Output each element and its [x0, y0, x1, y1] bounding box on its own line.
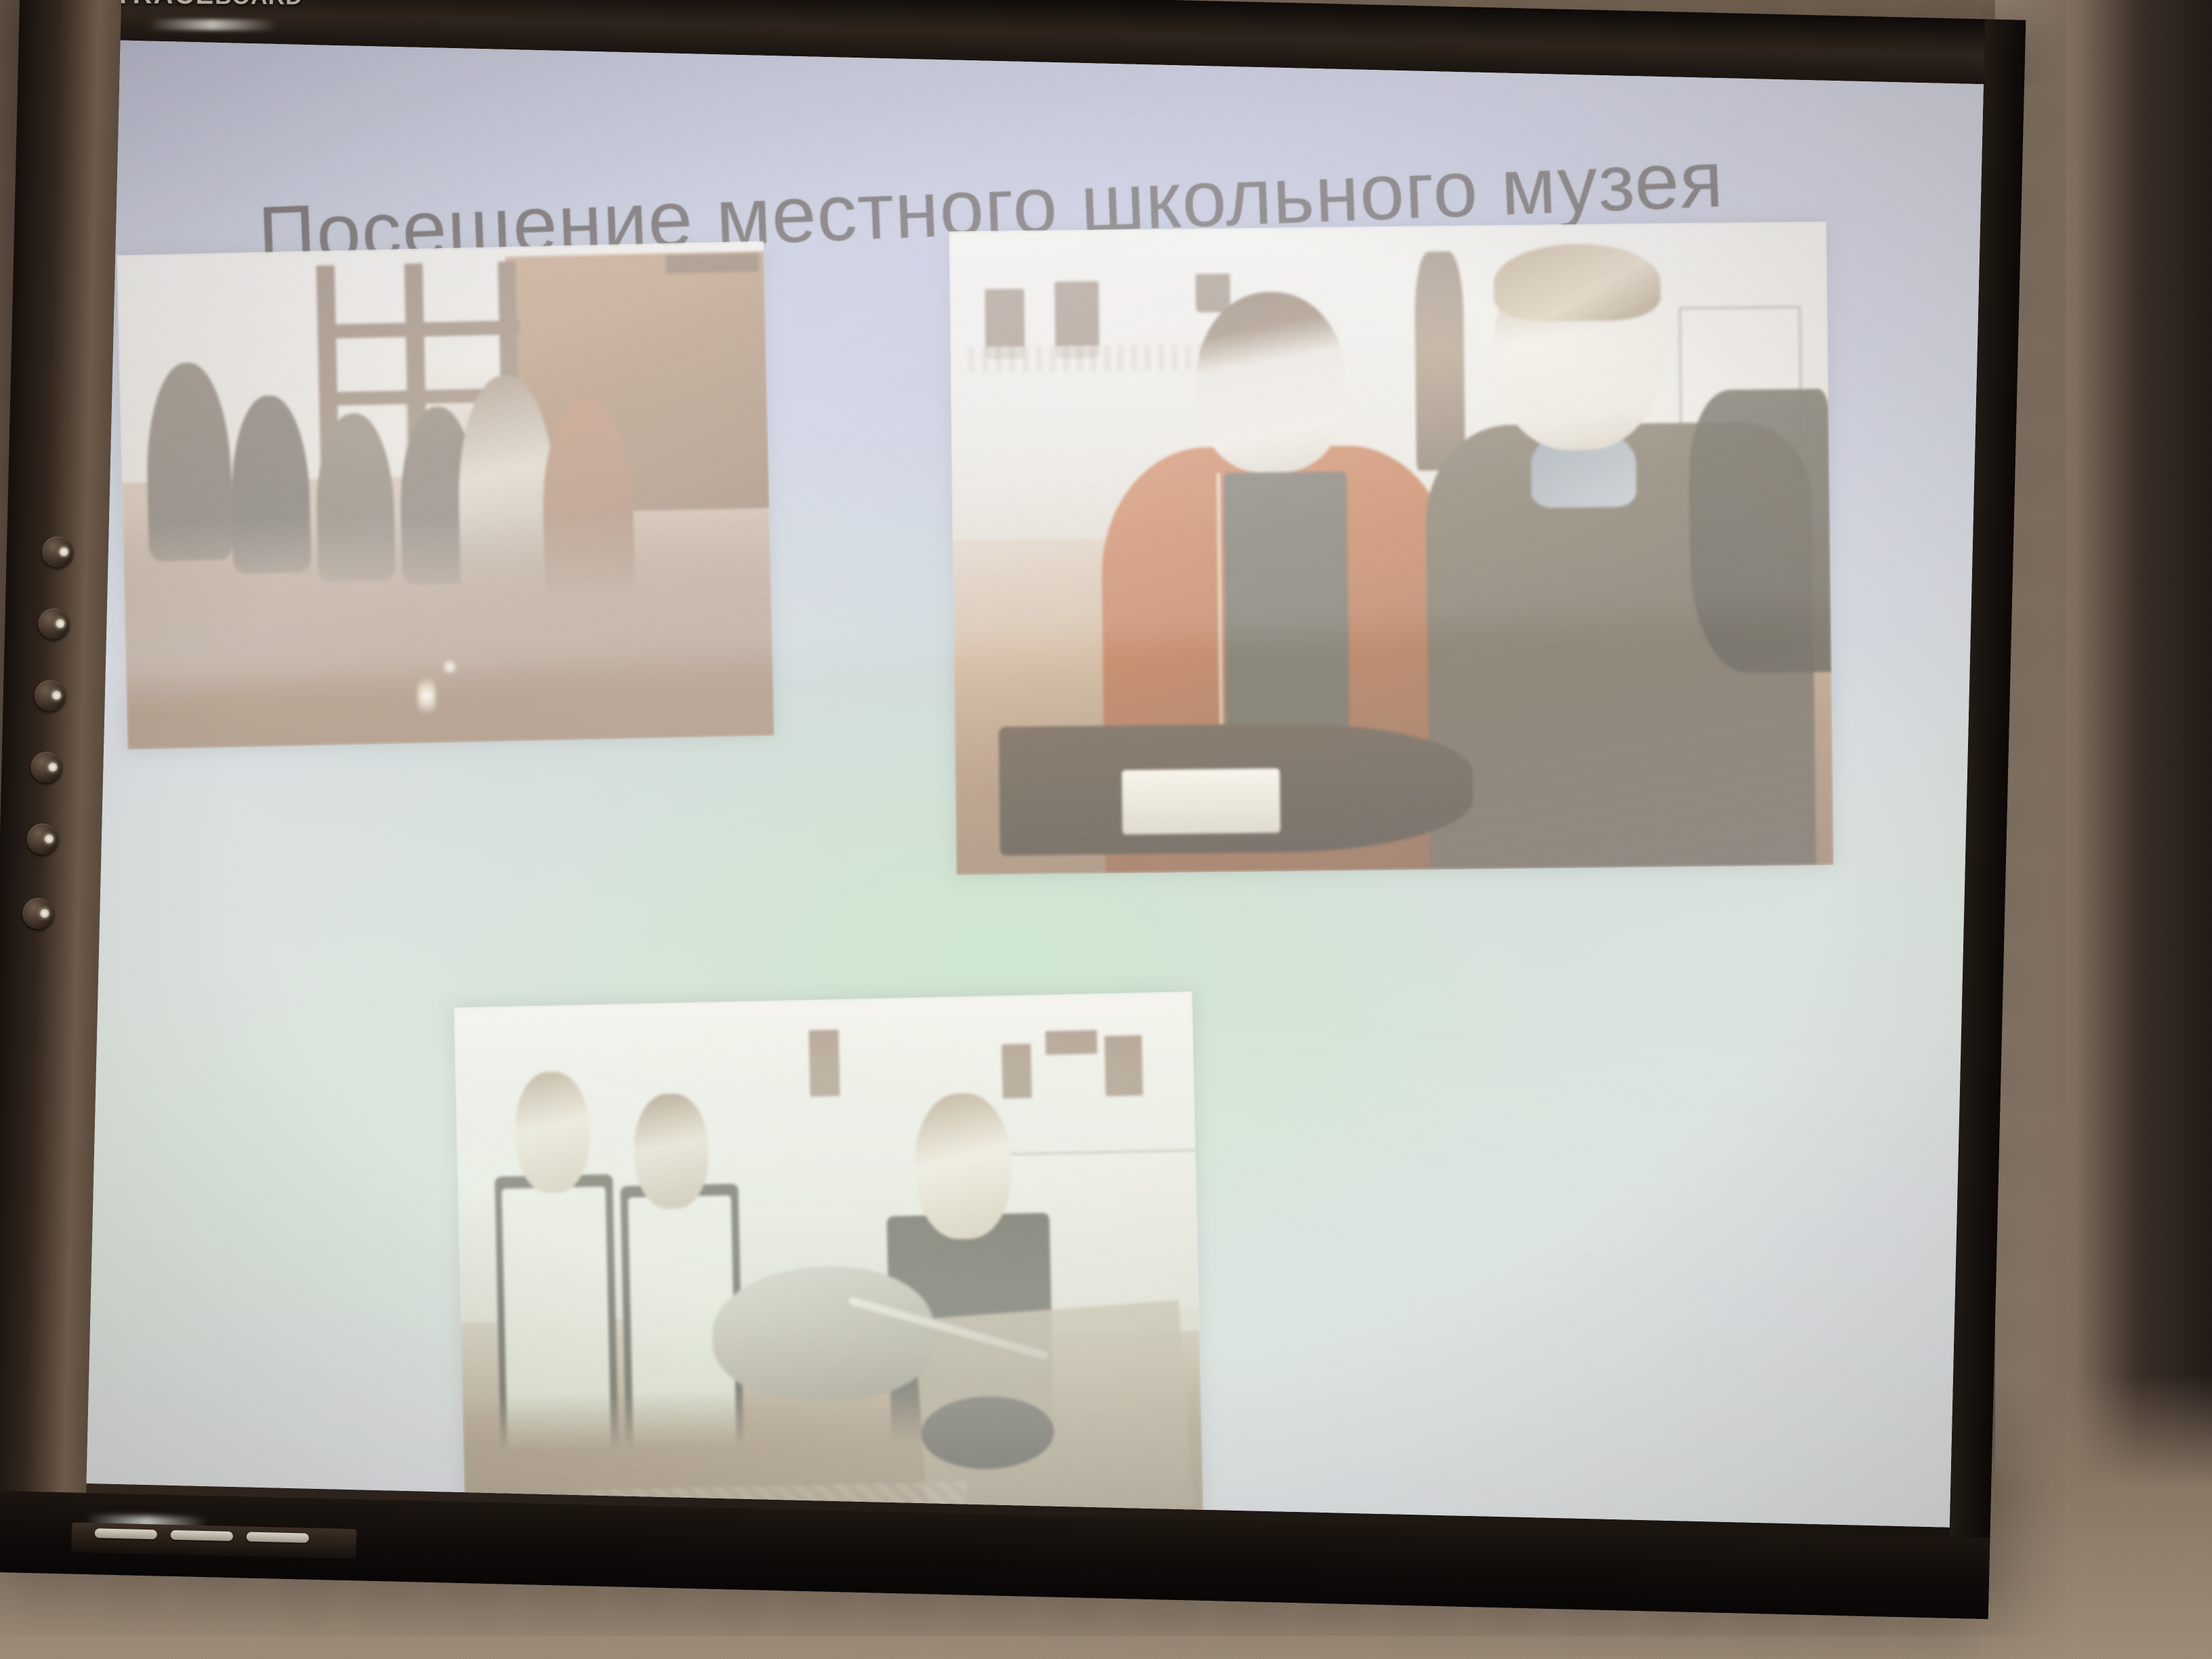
photo3-content [453, 991, 1205, 1528]
photo3-girl-3-head [914, 1092, 1012, 1240]
photo1-light-reflection [417, 678, 436, 714]
side-function-button-6[interactable] [22, 897, 54, 929]
photo1-light-reflection-2 [443, 660, 456, 674]
traceboard-logo: TRACEBOARD [115, 0, 303, 11]
projection-screen: Посещение местного школьного музея [87, 41, 1984, 1528]
photo-scene: TRACEBOARD Посещение местного школьного … [0, 0, 2212, 1659]
stylus-pen-3[interactable] [247, 1532, 309, 1543]
side-function-button-5[interactable] [26, 823, 58, 855]
brand-text-board: BOARD [215, 0, 303, 9]
photo2-content [949, 222, 1834, 876]
side-function-button-2[interactable] [38, 608, 70, 640]
photo3-wall-poster-1 [809, 1029, 840, 1097]
photo2-boy-orange-head [1195, 291, 1347, 473]
photo2-right-dark-mass [1688, 389, 1832, 674]
photo1-content [117, 241, 775, 750]
photo1-cabinet-label [665, 253, 759, 274]
side-function-button-1[interactable] [41, 536, 73, 568]
logo-highlight [148, 19, 276, 30]
photo1-foreground [123, 508, 775, 750]
photo2-shell-label [1122, 769, 1280, 835]
slide-photo-schoolgirls [453, 991, 1205, 1528]
stylus-pen-1[interactable] [95, 1528, 157, 1539]
photo3-wall-poster-3 [1045, 1030, 1097, 1055]
brand-text-trace: TRACE [115, 0, 215, 10]
bezel-button-rail [33, 536, 103, 944]
photo3-girl-1-head [514, 1071, 591, 1194]
photo3-wall-poster-4 [1105, 1035, 1143, 1097]
side-function-button-3[interactable] [34, 680, 66, 712]
photo3-wall-poster-2 [1001, 1044, 1031, 1099]
photo2-tall-exhibit [1414, 251, 1465, 471]
slide-photo-two-boys [949, 222, 1834, 876]
side-function-button-4[interactable] [30, 752, 62, 783]
slide-photo-group-museum [117, 241, 775, 750]
photo2-exhibit-item-3 [1195, 273, 1231, 312]
stylus-pen-2[interactable] [171, 1530, 233, 1541]
interactive-whiteboard: TRACEBOARD Посещение местного школьного … [0, 0, 2026, 1619]
photo3-girl-2-head [633, 1093, 710, 1210]
